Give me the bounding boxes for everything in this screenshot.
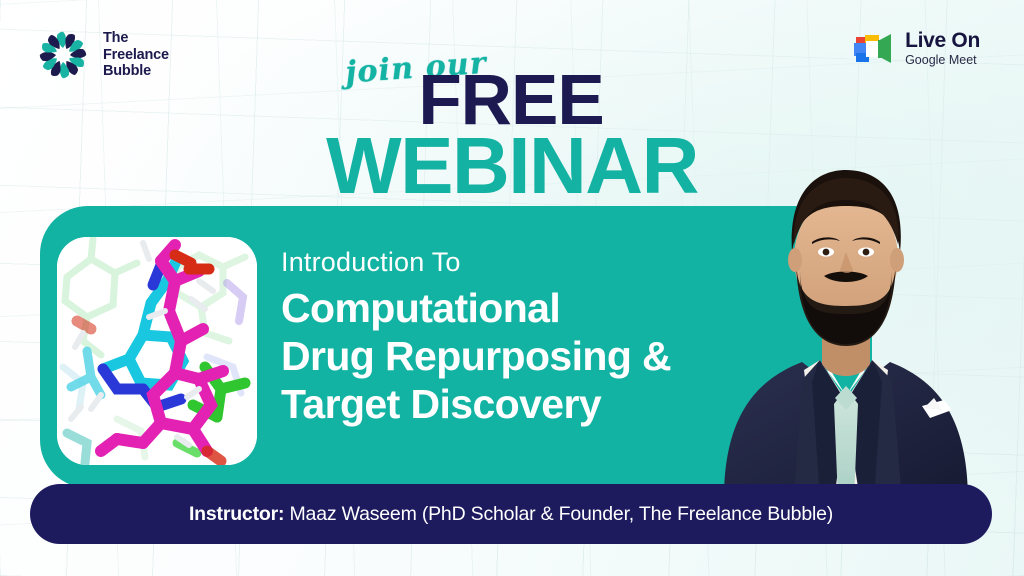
instructor-bar: Instructor: Maaz Waseem (PhD Scholar & F… [30,484,992,544]
instructor-text: Instructor: Maaz Waseem (PhD Scholar & F… [189,503,833,526]
molecular-structure-image [57,237,257,465]
speaker-portrait [716,148,976,500]
card-title-line-2: Drug Repurposing & [281,332,731,380]
card-eyebrow: Introduction To [281,248,731,278]
card-title-line-1: Computational [281,284,731,332]
card-title-line-3: Target Discovery [281,380,731,428]
instructor-label: Instructor: [189,503,284,525]
card-title-group: Introduction To Computational Drug Repur… [281,248,731,429]
instructor-value: Maaz Waseem (PhD Scholar & Founder, The … [284,503,833,525]
free-word: FREE [0,73,1023,128]
